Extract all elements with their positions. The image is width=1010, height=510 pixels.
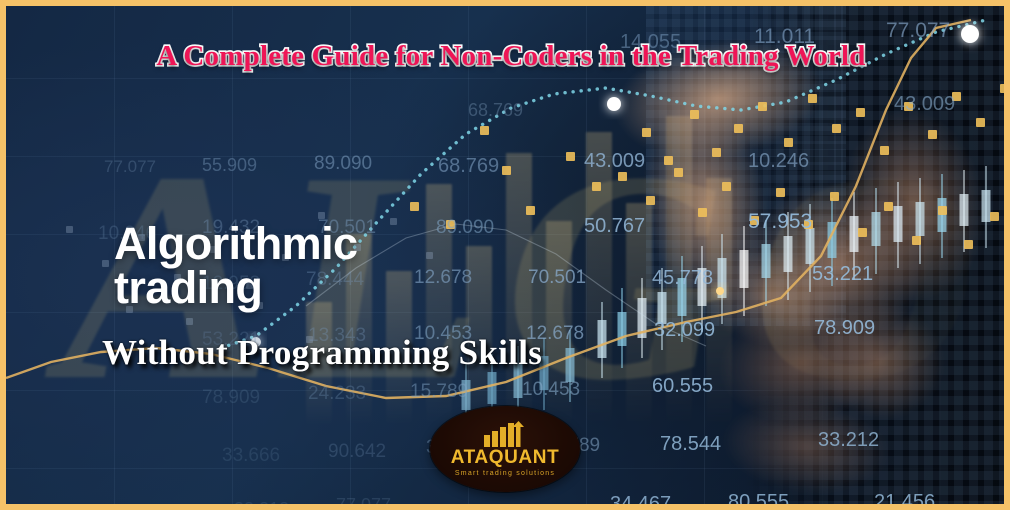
background-number: 53.221	[812, 264, 873, 284]
main-heading-line-2: trading	[114, 266, 357, 310]
background-number: 78.544	[660, 434, 721, 454]
background-number: 50.767	[584, 216, 645, 236]
page-title: A Complete Guide for Non-Coders in the T…	[156, 40, 865, 73]
background-number: 33.212	[818, 430, 879, 450]
background-number: 90.642	[328, 442, 386, 461]
background-number: 21.456	[874, 492, 935, 504]
ataquant-logo[interactable]: ATAQUANT Smart trading solutions	[430, 406, 580, 492]
background-number: 15.789	[410, 382, 468, 401]
background-number: 70.501	[528, 268, 586, 287]
background-number: 89.090	[314, 154, 372, 173]
background-number: 55.909	[202, 156, 257, 174]
background-number: 43.009	[584, 151, 645, 171]
background-number: 68.769	[438, 156, 499, 176]
background-number: 60.555	[652, 376, 713, 396]
bar-chart-up-arrow-icon	[482, 421, 528, 447]
background-number: 43.009	[894, 94, 955, 114]
background-number: 32.099	[654, 320, 715, 340]
background-number: 10.246	[748, 151, 809, 171]
background-number: 77.077	[104, 158, 156, 175]
background-number: 12.678	[414, 268, 472, 287]
logo-tagline: Smart trading solutions	[455, 470, 555, 477]
background-number: 78.909	[202, 388, 260, 407]
background-number: 45.778	[652, 268, 713, 288]
background-number: 80.555	[728, 492, 789, 504]
background-number: 34.467	[610, 494, 671, 504]
background-number: 33.666	[222, 446, 280, 465]
banner-root: ALGO 68.76914.05511.01177.	[0, 0, 1010, 510]
background-number: 68.769	[468, 101, 523, 119]
background-number: 10.453	[522, 380, 580, 399]
background-number: 77.077	[336, 496, 391, 504]
background-number: 77.077	[886, 20, 950, 41]
background-number: 33.212	[234, 500, 289, 504]
background-number: 57.953	[748, 211, 812, 232]
background-number: 89.090	[436, 218, 494, 237]
logo-name: ATAQUANT	[451, 448, 560, 467]
background-number: 24.233	[308, 384, 366, 403]
background-number: 78.909	[814, 318, 875, 338]
main-heading: Algorithmic trading	[114, 222, 357, 310]
sub-heading: Without Programming Skills	[102, 333, 542, 373]
title-bar: A Complete Guide for Non-Coders in the T…	[6, 40, 1010, 73]
